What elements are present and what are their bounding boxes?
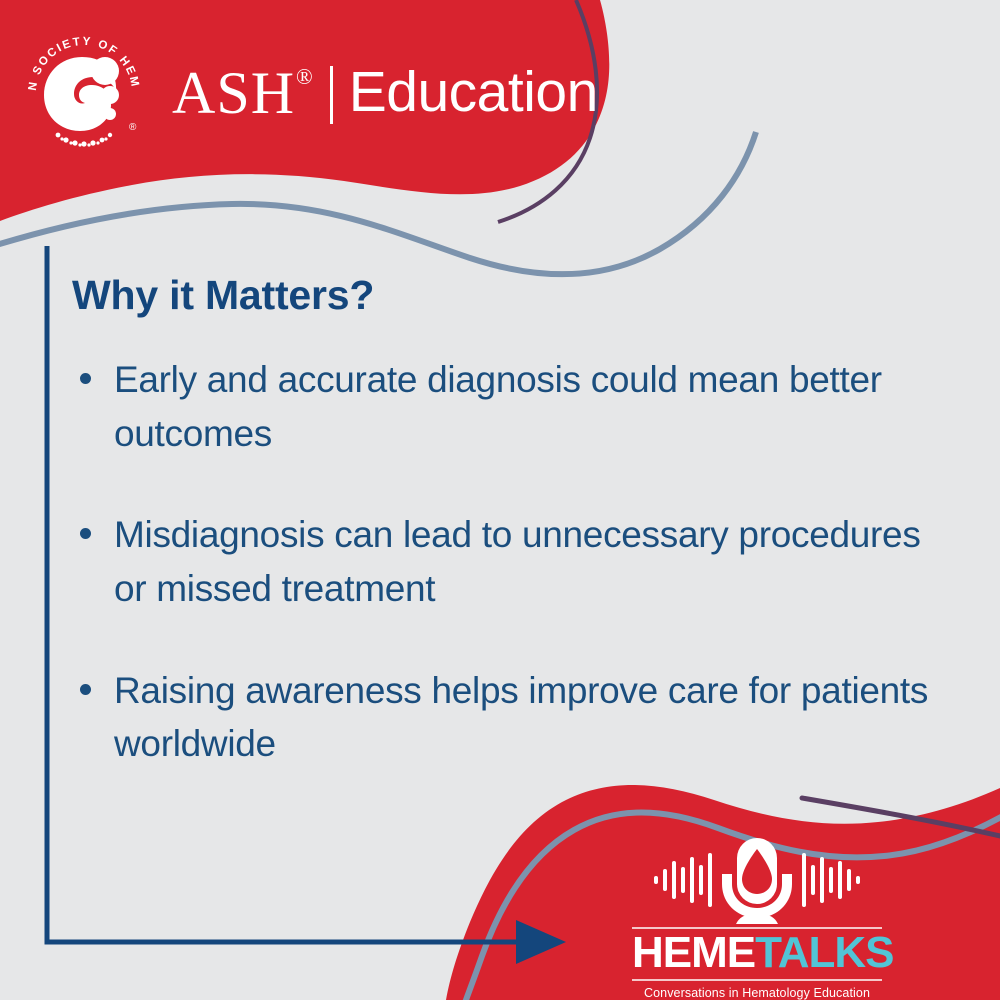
list-item-text: Early and accurate diagnosis could mean … <box>114 359 882 454</box>
pointer-arrowhead <box>516 920 566 964</box>
logo-tagline: Conversations in Hematology Education <box>632 983 882 1000</box>
bottom-purple-accent <box>802 798 1000 836</box>
ash-logo-icon: AMERICAN SOCIETY OF HEMATOLOGY ® <box>18 27 150 159</box>
brand-lockup: ASH ® Education <box>172 63 598 123</box>
brand-divider <box>330 66 333 124</box>
list-item-text: Misdiagnosis can lead to unnecessary pro… <box>114 514 921 609</box>
list-item-text: Raising awareness helps improve care for… <box>114 670 928 765</box>
list-item: Misdiagnosis can lead to unnecessary pro… <box>72 508 962 615</box>
bullet-dot-icon <box>80 684 91 695</box>
microphone-blood-drop-icon <box>632 836 882 924</box>
logo-registered-mark: ® <box>129 122 137 133</box>
header: AMERICAN SOCIETY OF HEMATOLOGY ® ASH ® E… <box>0 0 620 185</box>
hemetalks-logo: HEMETALKS Conversations in Hematology Ed… <box>632 836 882 1000</box>
bullet-dot-icon <box>80 373 91 384</box>
brand-education-text: Education <box>349 64 598 121</box>
wordmark-heme: HEME <box>632 928 755 977</box>
hemetalks-wordmark: HEMETALKS <box>632 931 882 976</box>
slide-canvas: AMERICAN SOCIETY OF HEMATOLOGY ® ASH ® E… <box>0 0 1000 1000</box>
bullet-dot-icon <box>80 528 91 539</box>
bullet-list: Early and accurate diagnosis could mean … <box>72 353 962 771</box>
list-item: Early and accurate diagnosis could mean … <box>72 353 962 460</box>
wordmark-talks: TALKS <box>755 928 893 977</box>
logo-rule-bottom <box>632 979 882 981</box>
brand-registered-mark: ® <box>296 66 313 88</box>
page-title: Why it Matters? <box>72 272 972 319</box>
ash-society-logo: AMERICAN SOCIETY OF HEMATOLOGY ® <box>18 27 150 159</box>
list-item: Raising awareness helps improve care for… <box>72 664 962 771</box>
brand-ash-text: ASH <box>172 63 295 123</box>
content-area: Why it Matters? Early and accurate diagn… <box>72 272 972 771</box>
